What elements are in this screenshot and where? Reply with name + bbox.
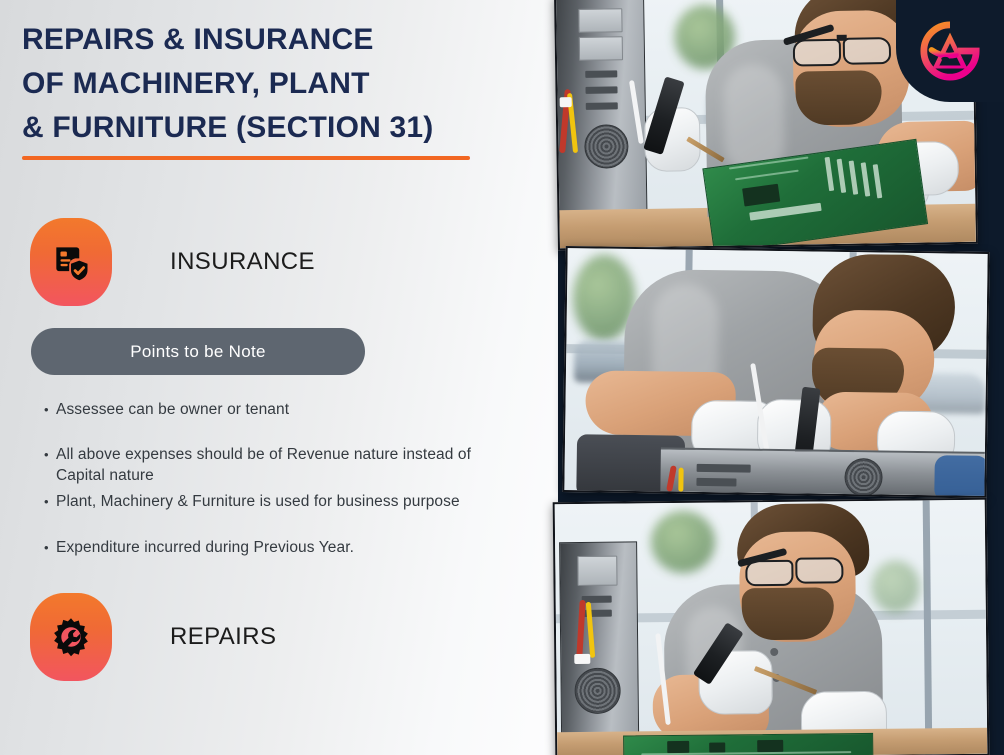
- section-label-insurance: INSURANCE: [170, 248, 315, 276]
- section-insurance: INSURANCE: [30, 218, 315, 306]
- points-to-note-pill: Points to be Note: [31, 328, 365, 375]
- slide-canvas: REPAIRS & INSURANCE OF MACHINERY, PLANT …: [0, 0, 1004, 755]
- list-item: Plant, Machinery & Furniture is used for…: [44, 491, 524, 512]
- list-item: All above expenses should be of Revenue …: [44, 444, 514, 486]
- photo-gallery: [548, 0, 1004, 755]
- list-item: Assessee can be owner or tenant: [44, 399, 514, 420]
- list-item: Expenditure incurred during Previous Yea…: [44, 537, 514, 558]
- page-title: REPAIRS & INSURANCE OF MACHINERY, PLANT …: [22, 18, 492, 150]
- photo-soldering-iron-closeup: [553, 498, 990, 755]
- section-repairs: REPAIRS: [30, 593, 276, 681]
- title-line-2: OF MACHINERY, PLANT: [22, 62, 492, 106]
- document-shield-check-icon: [30, 218, 112, 306]
- title-underline-rule: [22, 156, 470, 160]
- points-pill-label: Points to be Note: [130, 342, 266, 362]
- left-content-panel: REPAIRS & INSURANCE OF MACHINERY, PLANT …: [0, 0, 558, 755]
- photo-technician-over-pc-case: [562, 246, 989, 498]
- title-line-3: & FURNITURE (SECTION 31): [22, 106, 492, 150]
- section-label-repairs: REPAIRS: [170, 623, 276, 651]
- sag-monogram-logo: [896, 0, 1004, 102]
- title-line-1: REPAIRS & INSURANCE: [22, 18, 492, 62]
- gear-wrench-icon: [30, 593, 112, 681]
